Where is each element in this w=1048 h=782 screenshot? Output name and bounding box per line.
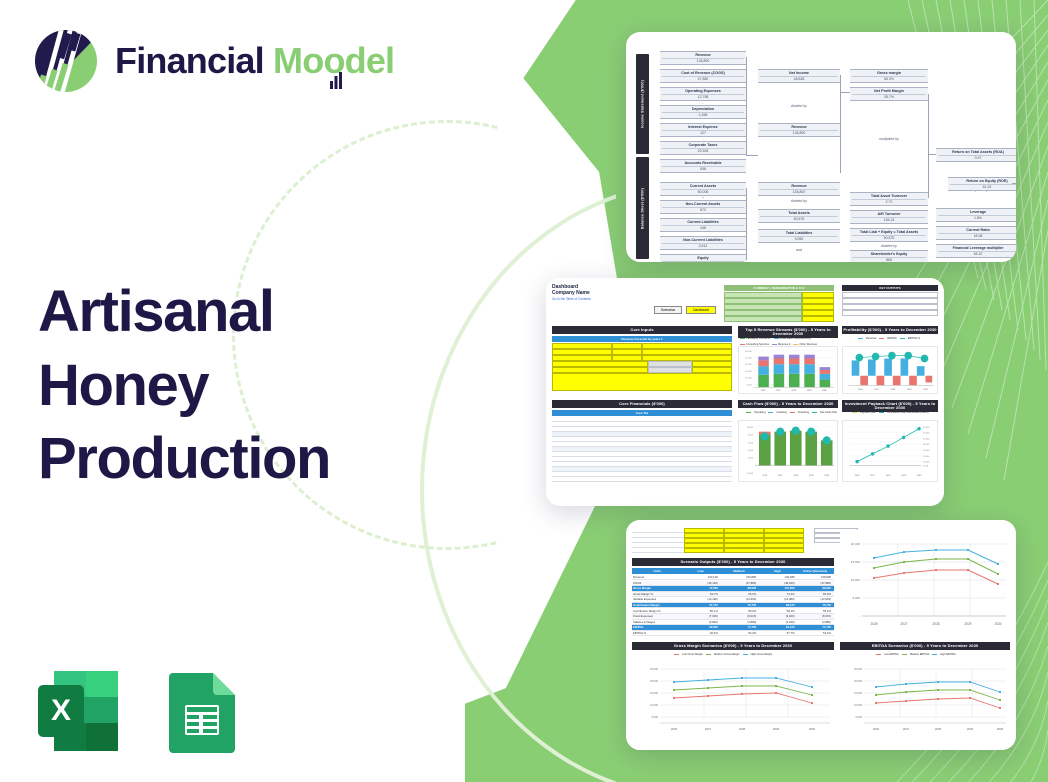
cell-high: 58.1% (757, 609, 795, 613)
svg-text:10,000: 10,000 (745, 378, 752, 380)
svg-text:45,000: 45,000 (923, 444, 930, 446)
core-financials-title: Core Financials ($'000) (552, 400, 732, 408)
cell-low: 133,130 (680, 575, 718, 579)
spine-balance-sheet: Balance Sheet ($'000) (636, 157, 649, 259)
currency-section-title: CURRENCY, DENOMINATION & TAX (724, 285, 834, 291)
cell-low: 52,900 (680, 625, 718, 629)
node-current-ratio: Current Ratio 18.08 (936, 226, 1016, 240)
connector (746, 188, 747, 260)
svg-text:2030: 2030 (997, 727, 1004, 731)
legend-label: Payback year (860, 411, 876, 414)
node-shareholders-equity: Shareholder's Equity 865 (850, 250, 928, 262)
brand-name-del: del (345, 40, 395, 81)
cell-high: 57.7% (757, 631, 795, 635)
chart-title-profitability: Profitability ($'000) - 5 Years to Decem… (842, 326, 938, 334)
node-revenue-2: Revenue 136,800 (758, 123, 840, 137)
input-cell[interactable] (552, 373, 732, 391)
node-roe: Return on Equity (ROE) 61.22 (948, 177, 1016, 191)
table-row (552, 477, 732, 482)
table-of-contents-link[interactable]: Go to the Table of Contents (552, 297, 591, 301)
scenario-outputs-header-row: UnitsLowMediumHighActive (Selected) (632, 568, 834, 574)
screenshot-card-scenarios[interactable]: Scenario Outputs ($'000) - 5 Years to De… (626, 520, 1016, 750)
spine-income-statement: Income Statement ($'000) (636, 54, 649, 154)
cell-label: EBITDA % (632, 631, 680, 635)
svg-text:6,000: 6,000 (748, 442, 754, 444)
svg-text:5,000: 5,000 (746, 384, 752, 386)
cell-low: 72,000 (680, 586, 718, 590)
svg-text:2027: 2027 (870, 475, 876, 477)
svg-text:2026: 2026 (858, 389, 863, 391)
scenario-outputs-title: Scenario Outputs ($'000) - 5 Years to De… (632, 558, 834, 566)
note-divided-by-2: divided by (758, 199, 840, 203)
chart-title-gross-margin-scenarios: Gross Margin Scenarios ($'000) - 5 Years… (632, 642, 834, 650)
svg-text:X: X (51, 694, 71, 727)
svg-text:2026: 2026 (761, 390, 766, 392)
cell-medium: 65.0% (719, 592, 757, 596)
node-net-income: Net Income 48,828 (758, 69, 840, 83)
svg-text:2028: 2028 (739, 727, 746, 731)
note-divided-by-1: divided by (758, 104, 840, 108)
cell-high: 107,600 (757, 586, 795, 590)
svg-text:2028: 2028 (891, 389, 896, 391)
cell-low: 53.7% (680, 592, 718, 596)
svg-text:2030: 2030 (822, 390, 827, 392)
svg-text:2026: 2026 (870, 622, 877, 626)
svg-text:2027: 2027 (903, 727, 910, 731)
dupont-diagram: Income Statement ($'000) Balance Sheet (… (626, 32, 1016, 262)
svg-text:5,000: 5,000 (652, 715, 659, 719)
svg-text:2030: 2030 (994, 622, 1001, 626)
svg-text:2030: 2030 (923, 389, 928, 391)
node-ar-turnover: A/R Turnover 145.24 (850, 210, 928, 224)
cell-active: (47,880) (796, 581, 832, 585)
svg-text:20,000: 20,000 (854, 679, 862, 683)
svg-text:2028: 2028 (932, 622, 939, 626)
table-row: Contribution Margin67,71075,75080,10075,… (632, 603, 834, 608)
svg-text:2027: 2027 (705, 727, 712, 731)
svg-text:20,000: 20,000 (851, 542, 861, 546)
svg-text:2027: 2027 (874, 389, 879, 391)
cell-low: 50.1% (680, 609, 718, 613)
cell-active: 88,920 (796, 586, 832, 590)
node-roa: Return on Total Assets (ROA) 0.97 (936, 148, 1016, 162)
dashboard-sheet: Dashboard Company Name Go to the Table o… (546, 278, 944, 506)
core-inputs-title: Core Inputs (552, 326, 732, 334)
page-title-line-1: Artisanal (38, 275, 438, 349)
svg-text:25,000: 25,000 (650, 667, 658, 671)
key-outputs-title: KEY OUTPUTS (842, 285, 938, 291)
node-depreciation: Depreciation 1,265 (660, 105, 746, 119)
svg-text:4,000: 4,000 (748, 450, 754, 452)
cell-low: (46,120) (680, 581, 718, 585)
chart-legend-revenue: Packaging Format #1 Small Batch Manufact… (740, 337, 840, 346)
cell-label: Variable Expenses (632, 597, 680, 601)
svg-text:15,000: 15,000 (650, 691, 658, 695)
chart-legend-profitability: Revenue EBITDA EBITDA % (858, 337, 920, 340)
chart-profitability: 202620272028 20292030 (842, 346, 938, 394)
cell-low: 67,710 (680, 603, 718, 607)
col-header-units: Units (633, 569, 681, 573)
chart-ebitda-scenarios: 25,00020,00015,000 10,0005,000 202620272… (840, 661, 1010, 733)
cell-active: 55.2% (796, 609, 832, 613)
cell-label: Fixed Expenses (632, 614, 680, 618)
cell-high: 140,480 (757, 575, 795, 579)
legend-label: Small Batch Manufacturing (780, 337, 811, 340)
cell-label: Revenue (632, 575, 680, 579)
chart-title-cash-flow: Cash Flow ($'000) - 5 Years to December … (738, 400, 838, 408)
svg-text:2029: 2029 (809, 475, 815, 477)
cell-high: (9,020) (757, 614, 795, 618)
svg-text:2029: 2029 (907, 389, 912, 391)
screenshot-card-dashboard[interactable]: Dashboard Company Name Go to the Table o… (546, 278, 944, 506)
brand-name-o-chart: o (323, 43, 344, 79)
svg-text:2,000: 2,000 (748, 458, 754, 460)
table-row: Contribution Margin %50.1%55.2%58.1%55.2… (632, 609, 834, 614)
table-row: COGS(46,120)(47,880)(49,640)(47,880) (632, 581, 834, 586)
connector (1012, 183, 1016, 184)
brand-name-financial: Financial (115, 40, 264, 81)
node-total-liab-plus-equity: Total Liab + Equity = Total Assets 50,57… (850, 228, 928, 242)
svg-text:2029: 2029 (964, 622, 971, 626)
note-multiplied-by-1: multiplied by (850, 137, 928, 141)
svg-text:5,000: 5,000 (852, 596, 860, 600)
svg-text:-: - (752, 465, 753, 467)
legend-label: Operating (754, 411, 765, 414)
connector (746, 57, 747, 155)
scenario-input-cell[interactable] (764, 548, 804, 553)
node-current-liabilities: Current Liabilities 448 (660, 218, 746, 232)
node-non-current-liabilities: Non-Current Liabilities 2,612 (660, 236, 746, 250)
cell-active: 136,800 (796, 575, 832, 579)
svg-text:5,000: 5,000 (856, 715, 863, 719)
chart-gross-margin-scenarios: 25,00020,00015,000 10,0005,000 202620272… (632, 661, 834, 733)
cell-high: 73.4% (757, 592, 795, 596)
svg-text:2028: 2028 (793, 475, 799, 477)
svg-text:2030: 2030 (824, 475, 830, 477)
chart-title-ebitda-scenarios: EBITDA Scenarios ($'000) - 5 Years to De… (840, 642, 1010, 650)
node-revenue-3: Revenue 136,800 (758, 182, 840, 196)
svg-text:2030: 2030 (917, 475, 923, 477)
scenarios-button[interactable]: Scenarios (654, 306, 682, 314)
node-leverage: Leverage 1.8% (936, 208, 1016, 222)
table-row: EBITDA52,90071,70081,10071,700 (632, 625, 834, 630)
key-output-row (842, 310, 938, 316)
cell-active: (13,903) (796, 597, 832, 601)
node-gross-margin: Gross margin 65.0% (850, 69, 928, 83)
svg-text:30,000: 30,000 (923, 450, 930, 452)
node-net-profit-margin: Net Profit Margin 35.7% (850, 87, 928, 101)
svg-text:2028: 2028 (791, 390, 796, 392)
cell-active: 52.4% (796, 631, 832, 635)
node-total-assets: Total Assets 50,576 (758, 209, 840, 223)
cell-active: 65.0% (796, 592, 832, 596)
chart-cash-flow: 10,0008,0006,000 4,0002,000- (2,000) (738, 420, 838, 482)
connector (840, 92, 850, 93)
cell-label: COGS (632, 581, 680, 585)
cell-active: 71,700 (796, 625, 832, 629)
svg-text:57,000: 57,000 (923, 433, 930, 435)
core-inputs-subheader: Revenue Forecast by years 1 (552, 336, 732, 342)
col-header-medium: Medium (720, 569, 758, 573)
node-non-current-assets: Non-Current Assets 570 (660, 200, 746, 214)
svg-text:25,000: 25,000 (745, 358, 752, 360)
table-row: Salaries & Wages(4,840)(3,880)(2,180)(3,… (632, 620, 834, 625)
chart-legend-payback: Payback year Cumulative Cash Generated (… (852, 411, 929, 414)
svg-text:8,000: 8,000 (748, 435, 754, 437)
core-financials-subheader: Core Tax (552, 410, 732, 416)
node-accounts-receivable: Accounts Receivable 938 (660, 159, 746, 173)
cell-high: (13,980) (757, 597, 795, 601)
node-total-asset-turnover: Total Asset Turnover 2.70 (850, 192, 928, 206)
svg-text:2026: 2026 (671, 727, 678, 731)
cell-label: Contribution Margin (632, 603, 680, 607)
chart-legend-gross-margin: Low Gross Margin Medium Gross Margin Hig… (674, 653, 772, 656)
cell-label: Gross Margin % (632, 592, 680, 596)
cell-high: (2,180) (757, 620, 795, 624)
col-header-low: Low (681, 569, 719, 573)
cell-medium: 52.4% (719, 631, 757, 635)
svg-text:10,000: 10,000 (747, 427, 754, 429)
svg-text:(2,000): (2,000) (746, 473, 753, 475)
legend-label: Low EBITDA (884, 653, 899, 656)
google-sheets-icon[interactable] (153, 663, 249, 759)
promo-banner: Financial Moo del Artisanal Honey Produc… (0, 0, 1048, 782)
node-operating-expenses: Operating Expenses 12,758 (660, 87, 746, 101)
cell-low: (4,840) (680, 620, 718, 624)
chart-ebitda-top: 20,00015,00010,0005,000- 202620272028 20… (840, 530, 1010, 634)
cell-low: (13,190) (680, 597, 718, 601)
legend-label: Investing (776, 411, 786, 414)
legend-label: Medium EBITDA (910, 653, 929, 656)
legend-label: High EBITDA (940, 653, 955, 656)
scenario-input-cell[interactable] (724, 548, 764, 553)
connector (840, 75, 841, 173)
node-interest-expense: Interest Expense 127 (660, 123, 746, 137)
svg-text:2029: 2029 (967, 727, 974, 731)
cell-medium: (3,880) (719, 620, 757, 624)
connector (928, 154, 929, 198)
chart-investment-payback: 54,00057,00050,000 45,00030,00020,000 10… (842, 420, 938, 482)
svg-text:25,000: 25,000 (854, 667, 862, 671)
svg-text:2029: 2029 (773, 727, 780, 731)
legend-label: EBITDA % (908, 337, 920, 340)
node-cogs: Cost of Revenue (COGS) 47,880 (660, 69, 746, 83)
screenshot-card-ratio-tree[interactable]: Income Statement ($'000) Balance Sheet (… (626, 32, 1016, 262)
legend-label: Financing (798, 411, 809, 414)
svg-text:54,000: 54,000 (923, 427, 930, 429)
node-corporate-taxes: Corporate Taxes 20,926 (660, 141, 746, 155)
svg-text:2028: 2028 (886, 475, 892, 477)
connector (928, 94, 929, 154)
dashboard-heading-line2: Company Name (552, 290, 591, 296)
svg-text:10,000: 10,000 (923, 462, 930, 464)
svg-text:20,000: 20,000 (923, 456, 930, 458)
scenario-input-cell[interactable] (684, 548, 724, 553)
svg-text:10,000: 10,000 (854, 703, 862, 707)
svg-text:-: - (859, 614, 860, 618)
cell-medium: (47,880) (719, 581, 757, 585)
cell-medium: 71,700 (719, 625, 757, 629)
legend-label: EBITDA (887, 337, 896, 340)
cell-label: EBITDA (632, 625, 680, 629)
cell-high: (49,640) (757, 581, 795, 585)
table-row: Gross Margin72,00088,920107,60088,920 (632, 586, 834, 591)
svg-text:10,000: 10,000 (851, 578, 861, 582)
svg-text:2030: 2030 (809, 727, 816, 731)
scenario-sheet: Scenario Outputs ($'000) - 5 Years to De… (626, 520, 1016, 750)
node-financial-leverage-multiplier: Financial Leverage multiplier 63.22 (936, 244, 1016, 258)
legend-label: Revenue (866, 337, 876, 340)
brand-name-mo: Mo (273, 40, 323, 81)
chart-legend-cash-flow: Operating Investing Financing Net Cash F… (746, 411, 837, 414)
cell-label: Contribution Margin % (632, 609, 680, 613)
brand-name: Financial Moo del (115, 43, 394, 79)
circle-bar-chart-logo-icon (32, 27, 100, 95)
dashboard-button[interactable]: Dashboard (686, 306, 716, 314)
dashboard-heading: Dashboard Company Name Go to the Table o… (552, 284, 591, 301)
svg-text:2029: 2029 (901, 475, 907, 477)
svg-text:10,000: 10,000 (650, 703, 658, 707)
table-row: Gross Margin %53.7%65.0%73.4%65.0% (632, 592, 834, 597)
node-total-liabilities: Total Liabilities 3,060 (758, 229, 840, 243)
svg-text:2029: 2029 (807, 390, 812, 392)
legend-label: Low Gross Margin (682, 653, 703, 656)
cell-low: 40.2% (680, 631, 718, 635)
tax2-label-cell (724, 316, 802, 322)
scenario-top-label (632, 548, 684, 553)
cell-high: 80,100 (757, 603, 795, 607)
svg-text:20,000: 20,000 (650, 679, 658, 683)
svg-text:2026: 2026 (762, 475, 768, 477)
svg-text:15,000: 15,000 (851, 560, 861, 564)
col-header-active: Active (Selected) (797, 569, 833, 573)
svg-text:15,000: 15,000 (745, 371, 752, 373)
svg-text:30,000: 30,000 (745, 351, 752, 353)
cell-active: (3,880) (796, 620, 832, 624)
svg-text:50,000: 50,000 (923, 438, 930, 440)
connector (928, 154, 936, 155)
svg-text:2027: 2027 (776, 390, 781, 392)
table-row: Fixed Expenses(7,000)(8,015)(9,020)(8,01… (632, 614, 834, 619)
file-format-icons: X (30, 663, 249, 759)
microsoft-excel-icon[interactable]: X (30, 663, 126, 759)
cell-low: (7,000) (680, 614, 718, 618)
chart-top-revenue-streams: 30,00025,00020,000 15,00010,0005,000 (738, 346, 838, 394)
brand-lockup: Financial Moo del (32, 27, 394, 95)
cell-medium: 88,920 (719, 586, 757, 590)
cell-active: 75,750 (796, 603, 832, 607)
note-and: and (758, 248, 840, 252)
legend-label: Packaging Format #1 (746, 337, 771, 340)
page-title-line-3: Production (38, 422, 438, 496)
legend-label: High Gross Margin (751, 653, 773, 656)
svg-text:1,000: 1,000 (923, 465, 929, 467)
page-title: Artisanal Honey Production (38, 275, 438, 496)
svg-text:2027: 2027 (900, 622, 907, 626)
cell-active: (8,015) (796, 614, 832, 618)
svg-text:2027: 2027 (778, 475, 784, 477)
col-header-high: High (758, 569, 796, 573)
svg-text:2026: 2026 (873, 727, 880, 731)
connector (746, 155, 758, 156)
table-row: Revenue133,130136,800140,480136,800 (632, 575, 834, 580)
node-current-assets: Current Assets 50,006 (660, 182, 746, 196)
cell-medium: (13,903) (719, 597, 757, 601)
cell-medium: 55.2% (719, 609, 757, 613)
svg-text:20,000: 20,000 (745, 364, 752, 366)
cell-medium: (8,015) (719, 614, 757, 618)
table-row: EBITDA %40.2%52.4%57.7%52.4% (632, 631, 834, 636)
legend-label: Medium Gross Margin (714, 653, 740, 656)
legend-label: Cumulative Cash Generated (Users) (887, 411, 929, 414)
page-title-line-2: Honey (38, 349, 438, 423)
cell-high: 81,100 (757, 625, 795, 629)
svg-text:2028: 2028 (935, 727, 942, 731)
table-row: Variable Expenses(13,190)(13,903)(13,980… (632, 597, 834, 602)
svg-text:15,000: 15,000 (854, 691, 862, 695)
svg-text:2026: 2026 (855, 475, 861, 477)
cell-label: Salaries & Wages (632, 620, 680, 624)
cell-medium: 136,800 (719, 575, 757, 579)
legend-label: Net Cash Flow (820, 411, 837, 414)
tax2-value-cell[interactable] (802, 316, 834, 322)
note-divided-by-3: divided by (850, 244, 928, 248)
chart-legend-ebitda: Low EBITDA Medium EBITDA High EBITDA (876, 653, 956, 656)
cell-medium: 75,750 (719, 603, 757, 607)
node-revenue: Revenue 136,800 (660, 51, 746, 65)
cell-label: Gross Margin (632, 586, 680, 590)
node-equity: Equity 47,516 (660, 254, 746, 262)
